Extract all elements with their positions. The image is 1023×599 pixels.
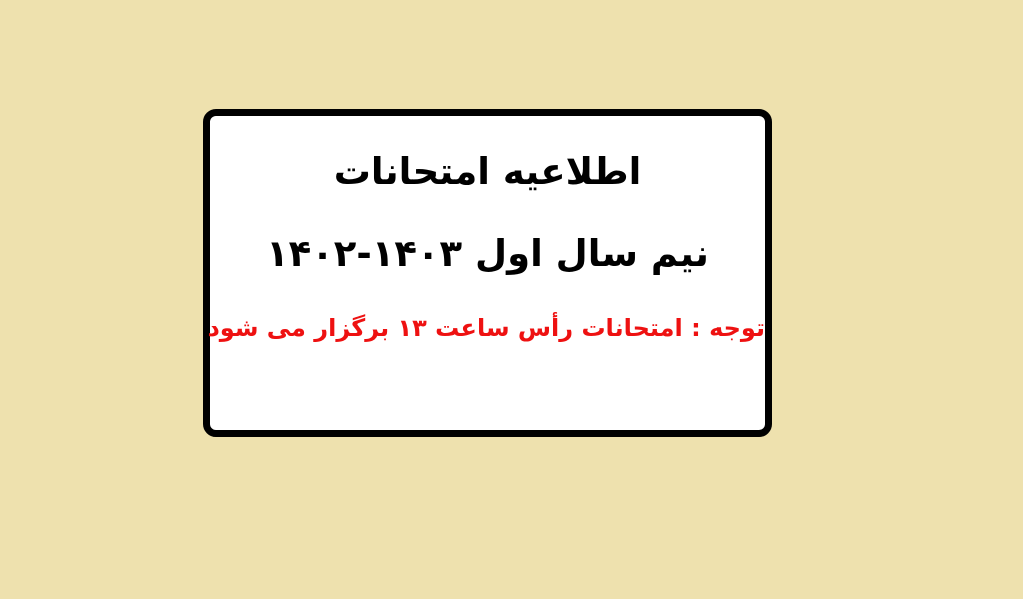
announcement-notice-text: توجه : امتحانات رأس ساعت ۱۳ برگزار می شو… xyxy=(210,313,765,343)
announcement-card: اطلاعیه امتحانات نیم سال اول ۱۴۰۳-۱۴۰۲ ت… xyxy=(203,109,772,437)
poster-canvas: اطلاعیه امتحانات نیم سال اول ۱۴۰۳-۱۴۰۲ ت… xyxy=(0,0,1023,599)
announcement-term-subtitle: نیم سال اول ۱۴۰۳-۱۴۰۲ xyxy=(210,232,765,276)
announcement-title: اطلاعیه امتحانات xyxy=(210,150,765,194)
